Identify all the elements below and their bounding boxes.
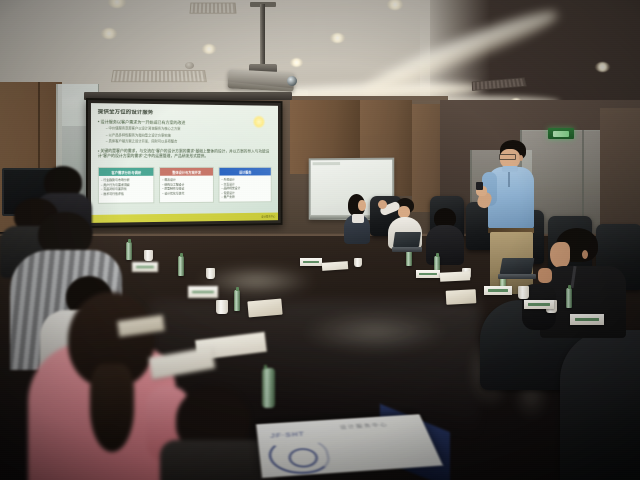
torso bbox=[426, 225, 464, 265]
paper-cup bbox=[354, 258, 362, 267]
projection-screen: 提供全方位的设计服务 • 设计服务以客户需求为一开始或已有方案的改进 – 中价值… bbox=[86, 98, 282, 228]
slide-bullet-1: • 设计服务以客户需求为一开始或已有方案的改进 bbox=[98, 119, 272, 126]
recessed-downlight bbox=[290, 58, 303, 67]
recessed-downlight bbox=[595, 62, 610, 72]
smoke-detector bbox=[185, 62, 194, 69]
slide-box-body: – 行业趋势与市场分析 – 用户行为与需求洞察 – 竞品对标与差异化 – 技术可… bbox=[99, 176, 153, 198]
conference-room-photo: 提供全方位的设计服务 • 设计服务以客户需求为一开始或已有方案的改进 – 中价值… bbox=[0, 0, 640, 480]
ear bbox=[582, 250, 588, 259]
name-plate-text bbox=[419, 273, 436, 276]
water-bottle bbox=[262, 368, 275, 408]
hair-tail bbox=[90, 364, 134, 452]
name-plate-text bbox=[575, 318, 599, 321]
projection-screen-surface: 提供全方位的设计服务 • 设计服务以客户需求为一开始或已有方案的改进 – 中价值… bbox=[91, 103, 278, 223]
name-plate-tent-card bbox=[416, 270, 440, 278]
name-plate-text bbox=[136, 266, 155, 269]
slide-box-header: 设计服务 bbox=[219, 168, 270, 176]
presentation-remote bbox=[476, 182, 483, 190]
slide-box-header: 整体设计与方案开发 bbox=[160, 168, 213, 176]
water-bottle bbox=[234, 290, 240, 311]
slide-box-header: 客户需求分析与调研 bbox=[99, 168, 153, 176]
paper-cup bbox=[216, 300, 228, 314]
face bbox=[358, 200, 366, 211]
slide-box-item: – 技术可行性评估 bbox=[101, 191, 152, 196]
slide-box: 设计服务 – 外观设计 – 交互设计 – 品牌视觉设计 – 包装设计 – 量产支… bbox=[219, 167, 272, 202]
laptop bbox=[392, 232, 422, 254]
name-plate-tent-card bbox=[300, 258, 322, 266]
air-conditioning-vent bbox=[111, 70, 207, 82]
documents bbox=[440, 271, 470, 282]
shirt-collar bbox=[352, 214, 364, 223]
name-plate-text bbox=[192, 291, 214, 294]
exit-sign bbox=[548, 128, 574, 139]
slide-box-item: – 设计优化与迭代 bbox=[162, 191, 211, 196]
paper-cup bbox=[206, 268, 215, 279]
water-bottle bbox=[178, 256, 184, 276]
slide-subbullet-3: – 具体客户端方案之设计开发，同时可以多项整合 bbox=[106, 140, 272, 145]
slide-subbullet-1: – 中价值服务意愿客户以设计咨询服务为核心之方案 bbox=[106, 126, 272, 132]
slide-subbullet-2: – 以产品多样性服务为指向型之设计方案实施 bbox=[106, 133, 272, 139]
paper-cup bbox=[144, 250, 153, 261]
air-conditioning-vent bbox=[189, 3, 236, 14]
slide-box: 客户需求分析与调研 – 行业趋势与市场分析 – 用户行为与需求洞察 – 竞品对标… bbox=[98, 167, 154, 203]
exit-sign-glyph bbox=[553, 131, 569, 137]
name-plate-text bbox=[528, 303, 550, 306]
projector-mount-pole bbox=[260, 4, 265, 68]
recessed-downlight bbox=[101, 28, 117, 39]
slide-title: 提供全方位的设计服务 bbox=[98, 109, 272, 117]
slide-sun-graphic bbox=[253, 115, 266, 129]
laptop bbox=[498, 258, 536, 282]
presentation-slide: 提供全方位的设计服务 • 设计服务以客户需求为一开始或已有方案的改进 – 中价值… bbox=[91, 103, 278, 223]
slide-bullet-2: • 关键的是客户的需求，与交流在"客户的设计方案的需求"基础上整体的设计，并以方… bbox=[98, 148, 272, 159]
recessed-downlight bbox=[202, 44, 216, 54]
ear bbox=[519, 155, 523, 161]
slide-box-row: 客户需求分析与调研 – 行业趋势与市场分析 – 用户行为与需求洞察 – 竞品对标… bbox=[98, 167, 272, 204]
water-bottle bbox=[126, 242, 132, 260]
laptop-screen bbox=[500, 258, 535, 274]
name-plate-tent-card bbox=[484, 286, 512, 295]
tissue-box bbox=[247, 299, 282, 318]
laptop-keyboard bbox=[498, 274, 536, 279]
slide-box-body: – 概念设计 – 结构与工程设计 – 原型制作与验证 – 设计优化与迭代 bbox=[160, 176, 213, 198]
name-plate-text bbox=[488, 289, 508, 292]
shirt-collar bbox=[502, 166, 518, 172]
glasses-icon bbox=[499, 154, 516, 160]
slide-footer-note: 设计服务中心 bbox=[261, 214, 275, 218]
name-plate-tent-card bbox=[132, 262, 158, 272]
tissue-box bbox=[446, 289, 477, 305]
name-plate-text bbox=[303, 261, 319, 264]
slide-box: 整体设计与方案开发 – 概念设计 – 结构与工程设计 – 原型制作与验证 – 设… bbox=[159, 167, 214, 203]
hand-on-chin bbox=[538, 268, 552, 283]
product-box-side-text: 设计服务中心 bbox=[339, 421, 389, 430]
slide-box-body: – 外观设计 – 交互设计 – 品牌视觉设计 – 包装设计 – 量产支持 bbox=[219, 175, 270, 201]
recessed-downlight bbox=[330, 33, 345, 43]
laptop-keyboard bbox=[392, 247, 422, 252]
water-bottle bbox=[566, 288, 572, 308]
name-plate-tent-card bbox=[524, 300, 554, 309]
name-plate-tent-card bbox=[570, 314, 604, 325]
paper-cup bbox=[518, 286, 529, 299]
slide-box-item: – 量产支持 bbox=[221, 195, 269, 200]
laptop-screen bbox=[393, 232, 421, 247]
hand bbox=[378, 200, 387, 209]
ceiling-mounted-projector bbox=[228, 69, 295, 91]
name-plate-tent-card bbox=[188, 286, 218, 298]
slide-footer-band: 设计服务中心 bbox=[91, 213, 278, 223]
office-chair bbox=[560, 330, 640, 480]
face bbox=[550, 242, 570, 268]
